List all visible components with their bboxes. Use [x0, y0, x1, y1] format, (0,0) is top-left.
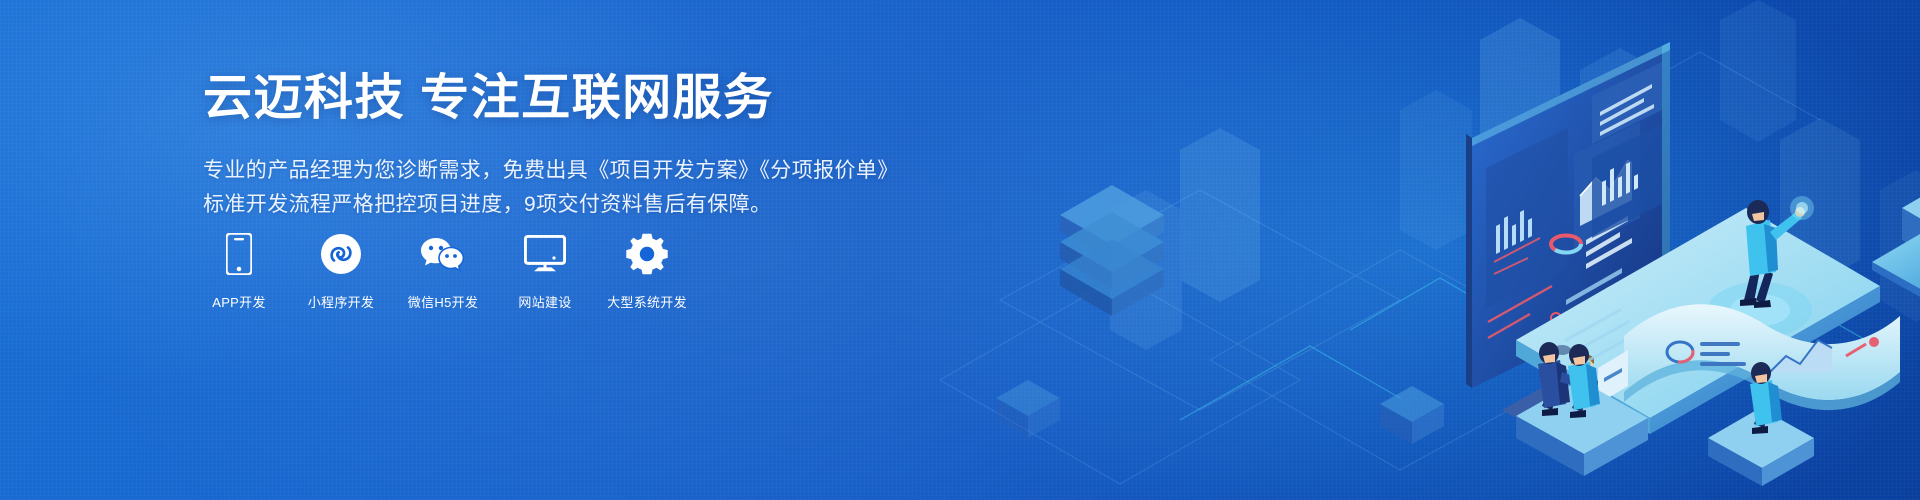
service-label: APP开发 [212, 292, 266, 311]
gear-icon [611, 232, 683, 276]
banner-copy: 云迈科技 专注互联网服务 专业的产品经理为您诊断需求，免费出具《项目开发方案》《… [203, 72, 903, 222]
mobile-phone-icon [203, 232, 275, 276]
subtitle-line-1: 专业的产品经理为您诊断需求，免费出具《项目开发方案》《分项报价单》 [203, 154, 903, 188]
subtitle-line-2: 标准开发流程严格把控项目进度，9项交付资料售后有保障。 [203, 188, 903, 222]
isometric-data-dashboard-illustration [880, 0, 1920, 500]
service-item-mini-program[interactable]: 小程序开发 [305, 232, 377, 311]
banner-subtitle: 专业的产品经理为您诊断需求，免费出具《项目开发方案》《分项报价单》 标准开发流程… [203, 154, 903, 222]
wechat-icon [407, 232, 479, 276]
page-title: 云迈科技 专注互联网服务 [203, 72, 903, 126]
service-item-wechat-h5[interactable]: 微信H5开发 [407, 232, 479, 311]
service-item-app[interactable]: APP开发 [203, 232, 275, 311]
service-label: 小程序开发 [308, 292, 375, 311]
promo-banner: 云迈科技 专注互联网服务 专业的产品经理为您诊断需求，免费出具《项目开发方案》《… [0, 0, 1920, 500]
mini-program-icon [305, 232, 377, 276]
service-label: 微信H5开发 [408, 292, 478, 311]
service-label: 网站建设 [518, 292, 571, 311]
monitor-icon [509, 232, 581, 276]
service-label: 大型系统开发 [607, 292, 687, 311]
service-item-website[interactable]: 网站建设 [509, 232, 581, 311]
service-item-large-system[interactable]: 大型系统开发 [611, 232, 683, 311]
service-list: APP开发 小程序开发 [203, 232, 683, 311]
